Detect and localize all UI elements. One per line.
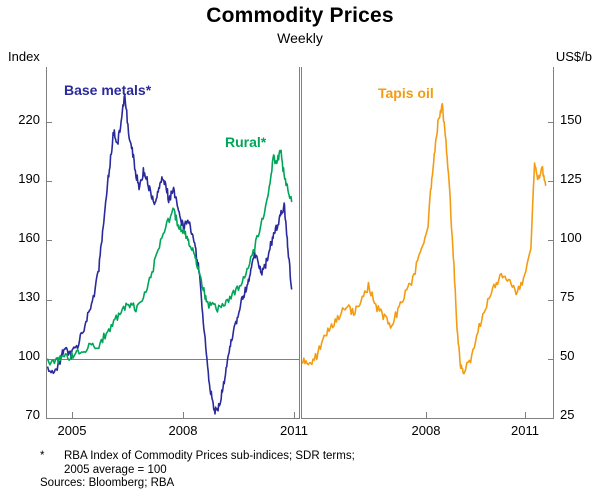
left-ytick-130: 130 (0, 290, 40, 303)
left-ytick-70: 70 (0, 408, 40, 421)
right-axis-unit: US$/b (556, 49, 592, 64)
chart-footnotes: * RBA Index of Commodity Prices sub-indi… (40, 450, 355, 491)
right-xtick-2008: 2008 (398, 424, 454, 437)
right-ytick-75: 75 (560, 290, 600, 303)
footnote-sources: Sources: Bloomberg; RBA (40, 477, 355, 491)
right-ytick-25: 25 (560, 408, 600, 421)
left-ytick-220: 220 (0, 113, 40, 126)
chart-root: Commodity Prices Weekly Index US$/b 220 … (0, 0, 600, 500)
left-axis-unit: Index (8, 49, 40, 64)
chart-plot (46, 67, 554, 419)
chart-title: Commodity Prices (0, 4, 600, 28)
series-line-tapis-oil (303, 104, 546, 374)
left-xtick-2005: 2005 (44, 424, 100, 437)
left-ytick-160: 160 (0, 231, 40, 244)
right-ytick-50: 50 (560, 349, 600, 362)
right-ytick-125: 125 (560, 172, 600, 185)
footnote-text-1: RBA Index of Commodity Prices sub-indice… (64, 450, 355, 462)
left-ytick-190: 190 (0, 172, 40, 185)
series-line-base-metals (48, 95, 292, 414)
right-ytick-100: 100 (560, 231, 600, 244)
chart-subtitle: Weekly (0, 30, 600, 46)
right-ytick-150: 150 (560, 113, 600, 126)
footnote-line-2: 2005 average = 100 (40, 464, 355, 478)
footnote-mark: * (40, 450, 44, 464)
left-ytick-100: 100 (0, 349, 40, 362)
footnote-line-1: * RBA Index of Commodity Prices sub-indi… (40, 450, 355, 464)
left-xtick-2011: 2011 (266, 424, 322, 437)
right-xtick-2011: 2011 (497, 424, 553, 437)
footnote-text-2: 2005 average = 100 (64, 464, 167, 476)
left-xtick-2008: 2008 (155, 424, 211, 437)
